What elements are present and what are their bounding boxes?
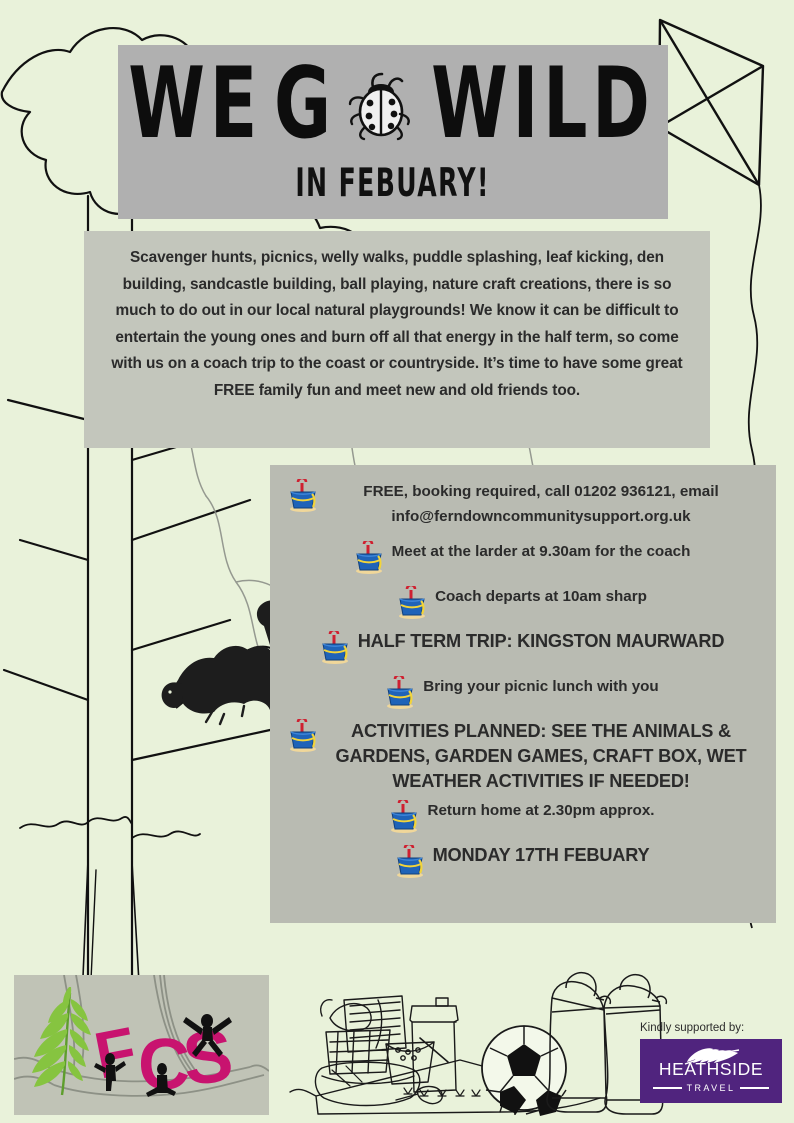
title-word-go: G: [274, 60, 336, 150]
bucket-and-spade-icon: [387, 800, 421, 839]
football-icon: [482, 1026, 566, 1116]
list-item-label: ACTIVITIES PLANNED: SEE THE ANIMALS & GA…: [326, 719, 756, 794]
list-item: Meet at the larder at 9.30am for the coa…: [276, 539, 766, 580]
list-item-label: HALF TERM TRIP: KINGSTON MAURWARD: [358, 629, 725, 654]
title-band: WE G: [118, 45, 668, 219]
rule-right: [740, 1087, 769, 1089]
bucket-and-spade-icon: [286, 719, 320, 758]
title-subtitle: IN FEBUARY!: [296, 161, 491, 206]
intro-paragraph: Scavenger hunts, picnics, welly walks, p…: [106, 245, 688, 404]
fern-leaf-icon: [681, 1045, 741, 1070]
heathside-travel-logo: HEATHSIDE TRAVEL: [640, 1039, 782, 1103]
fcs-logo: F C S: [14, 975, 269, 1115]
bucket-and-spade-icon: [352, 541, 386, 580]
list-item: ACTIVITIES PLANNED: SEE THE ANIMALS & GA…: [276, 719, 766, 794]
bucket-and-spade-icon: [286, 479, 320, 518]
details-panel: FREE, booking required, call 01202 93612…: [270, 465, 776, 923]
title-row: WE G: [124, 68, 662, 142]
list-item-label: Coach departs at 10am sharp: [435, 584, 647, 609]
intro-panel: Scavenger hunts, picnics, welly walks, p…: [84, 231, 710, 448]
list-item-label: MONDAY 17TH FEBUARY: [433, 843, 650, 868]
supported-by-label: Kindly supported by:: [640, 1022, 782, 1034]
list-item-label: FREE, booking required, call 01202 93612…: [326, 479, 756, 529]
picnic-illustration-icon: [290, 996, 600, 1114]
sponsor-block: Kindly supported by: HEATHSIDE TRAV: [640, 1022, 782, 1103]
sponsor-sub-row: TRAVEL: [653, 1083, 769, 1093]
title-word-wild: WILD: [431, 60, 654, 150]
poster-canvas: WE G: [0, 0, 794, 1123]
bucket-and-spade-icon: [383, 676, 417, 715]
list-item-label: Bring your picnic lunch with you: [423, 674, 658, 699]
ladybug-icon: [344, 68, 418, 142]
fern-leaf-icon: [32, 987, 91, 1095]
list-item-label: Meet at the larder at 9.30am for the coa…: [392, 539, 691, 564]
bucket-and-spade-icon: [395, 586, 429, 625]
title-word-we: WE: [128, 60, 262, 150]
list-item: HALF TERM TRIP: KINGSTON MAURWARD: [276, 629, 766, 670]
list-item: Bring your picnic lunch with you: [276, 674, 766, 715]
list-item-label: Return home at 2.30pm approx.: [427, 798, 654, 823]
bucket-and-spade-icon: [393, 845, 427, 884]
list-item: Coach departs at 10am sharp: [276, 584, 766, 625]
list-item: Return home at 2.30pm approx.: [276, 798, 766, 839]
list-item: MONDAY 17TH FEBUARY: [276, 843, 766, 884]
sponsor-sub: TRAVEL: [687, 1083, 736, 1093]
rule-left: [653, 1087, 682, 1089]
list-item: FREE, booking required, call 01202 93612…: [276, 479, 766, 529]
bucket-and-spade-icon: [318, 631, 352, 670]
